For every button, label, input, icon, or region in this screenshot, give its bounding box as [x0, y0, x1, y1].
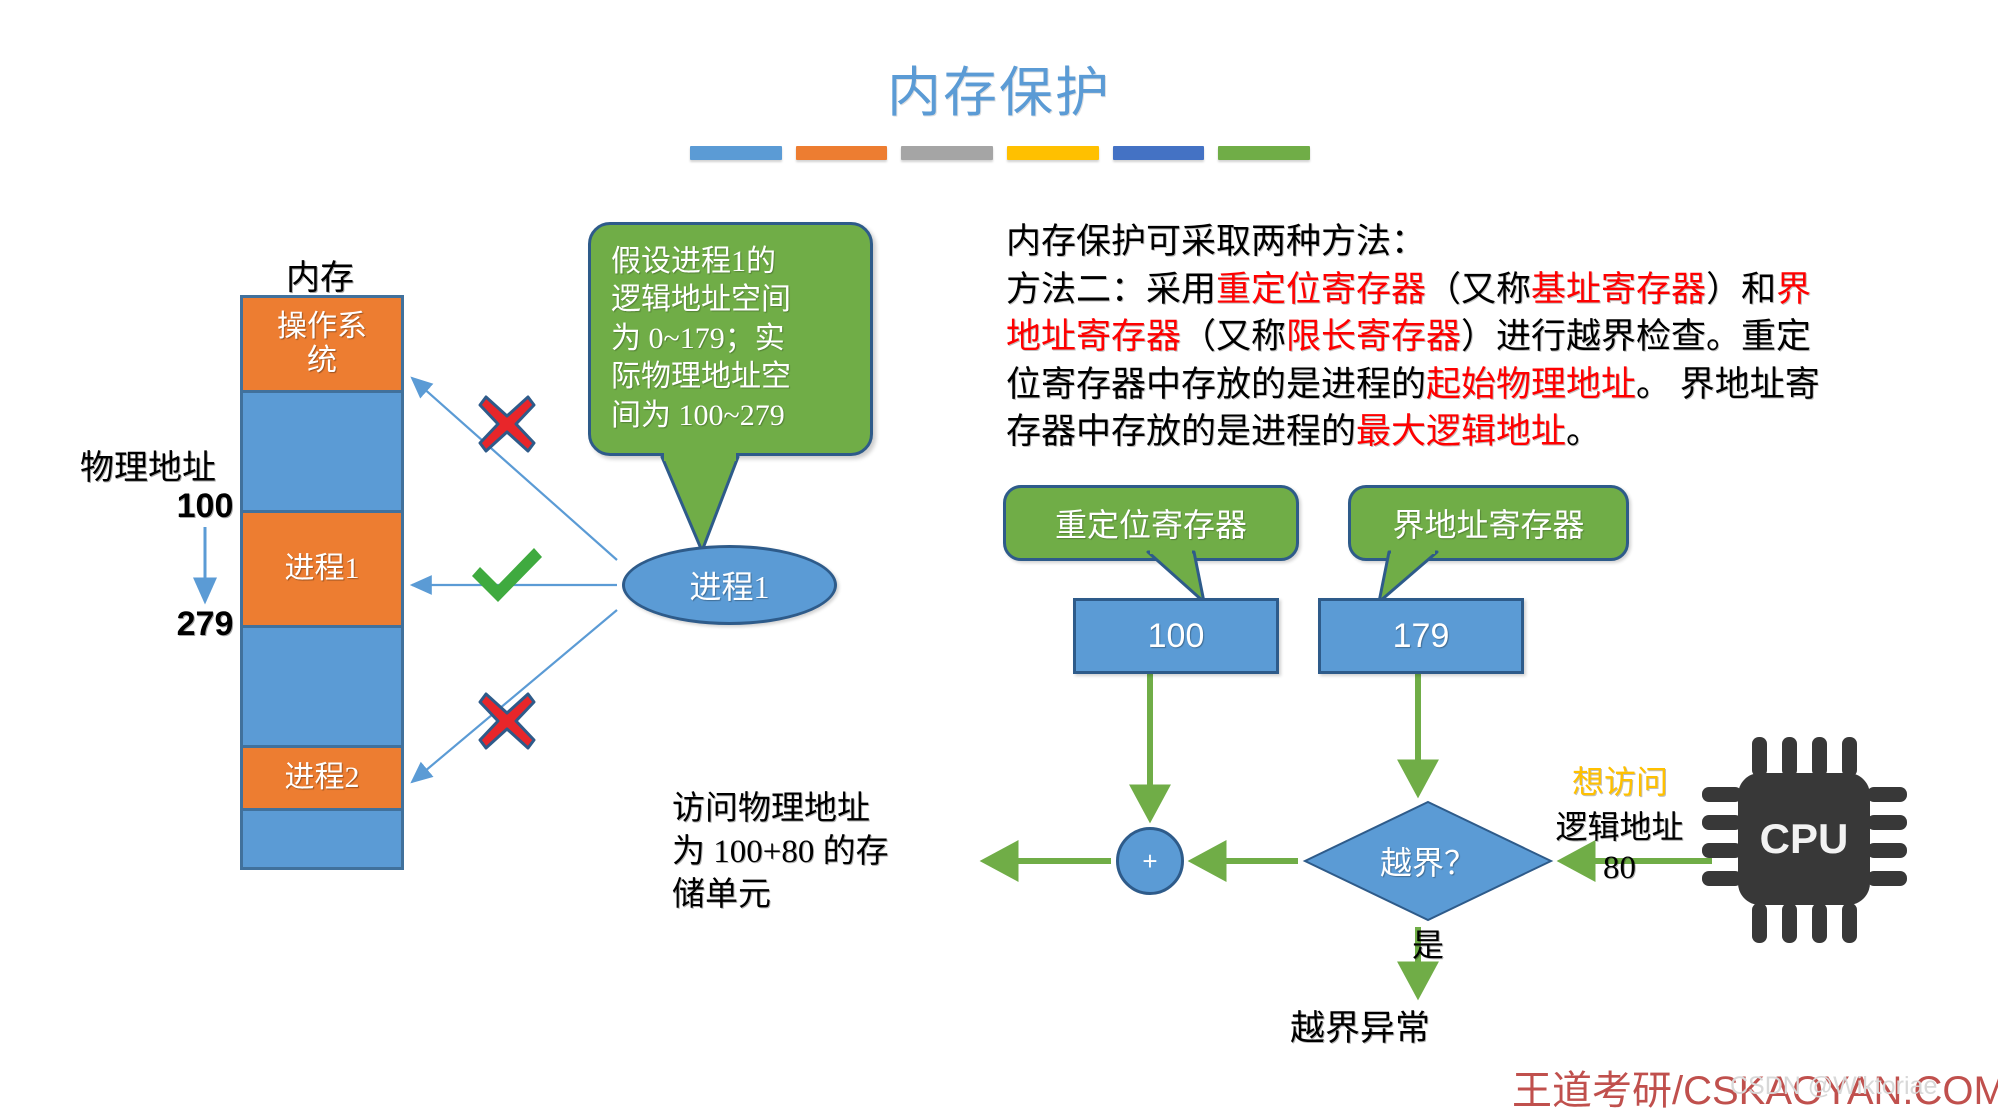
assumption-line-4: 际物理地址空 — [611, 358, 854, 396]
cpu-chip-icon: CPU — [1700, 735, 1895, 945]
method-line4-seg-a: 位寄存器中存放的是进程的 — [1006, 365, 1426, 404]
assumption-callout: 假设进程1的 逻辑地址空间 为 0~179；实 际物理地址空 间为 100~27… — [588, 222, 873, 456]
process1-node: 进程1 — [622, 545, 837, 625]
method-line2-hl-base: 基址寄存器 — [1531, 270, 1706, 309]
method-line-5: 存器中存放的是进程的最大逻辑地址。 — [1006, 408, 1956, 456]
method-line3-hl-lenreg: 限长寄存器 — [1286, 317, 1461, 356]
method-line2-seg-b: （又称 — [1426, 270, 1531, 309]
method-line4-hl-startaddr: 起始物理地址 — [1426, 365, 1636, 404]
access-result-text: 访问物理地址 为 100+80 的存 储单元 — [672, 788, 972, 917]
process-connector-lines — [0, 0, 1998, 1118]
cpu-want-label: 想访问 — [1545, 757, 1695, 803]
method-line3-hl-limitaddr: 地址寄存器 — [1006, 317, 1181, 356]
svg-text:CPU: CPU — [1760, 815, 1849, 862]
assumption-line-2: 逻辑地址空间 — [611, 281, 854, 319]
method-line2-seg-a: 方法二：采用 — [1006, 270, 1216, 309]
method-line5-seg-b: 。 — [1566, 412, 1601, 451]
limit-register-value: 179 — [1318, 598, 1524, 674]
assumption-line-1: 假设进程1的 — [611, 243, 854, 281]
cross-mark-os-icon — [476, 393, 538, 455]
cpu-logical-address-value: 80 — [1527, 850, 1712, 887]
assumption-line-5: 间为 100~279 — [611, 397, 854, 435]
method-line-1: 内存保护可采取两种方法： — [1006, 218, 1956, 266]
method-line-3: 地址寄存器（又称限长寄存器）进行越界检查。重定 — [1006, 313, 1956, 361]
method-line2-seg-c: ）和 — [1706, 270, 1776, 309]
method-line3-seg-a: （又称 — [1181, 317, 1286, 356]
assumption-line-3: 为 0~179；实 — [611, 320, 854, 358]
adder-node: + — [1116, 827, 1184, 895]
method-line3-seg-b: ）进行越界检查。重定 — [1461, 317, 1811, 356]
method-line4-seg-b: 。 界地址寄 — [1636, 365, 1820, 404]
check-mark-process1-icon — [468, 540, 546, 610]
method-description: 内存保护可采取两种方法： 方法二：采用重定位寄存器（又称基址寄存器）和界 地址寄… — [1006, 218, 1956, 456]
method-line5-hl-maxlogical: 最大逻辑地址 — [1356, 412, 1566, 451]
access-result-line-3: 储单元 — [672, 874, 972, 917]
method-line-4: 位寄存器中存放的是进程的起始物理地址。 界地址寄 — [1006, 361, 1956, 409]
method-line2-hl-limit-a: 界 — [1776, 270, 1811, 309]
method-line-2: 方法二：采用重定位寄存器（又称基址寄存器）和界 — [1006, 266, 1956, 314]
cross-mark-process2-icon — [476, 690, 538, 752]
csdn-watermark: CSDN @Wiktoriae — [1730, 1072, 1937, 1101]
access-result-line-1: 访问物理地址 — [672, 788, 972, 831]
yes-branch-label: 是 — [1412, 920, 1444, 966]
relocation-register-value: 100 — [1073, 598, 1279, 674]
method-line5-seg-a: 存器中存放的是进程的 — [1006, 412, 1356, 451]
cpu-logical-address-label: 逻辑地址 — [1527, 802, 1712, 848]
overflow-decision-node: 越界？ — [1303, 800, 1553, 922]
method-line2-hl-reloc: 重定位寄存器 — [1216, 270, 1426, 309]
access-result-line-2: 为 100+80 的存 — [672, 831, 972, 874]
exception-label: 越界异常 — [1290, 1000, 1430, 1051]
overflow-decision-label: 越界？ — [1303, 800, 1553, 922]
